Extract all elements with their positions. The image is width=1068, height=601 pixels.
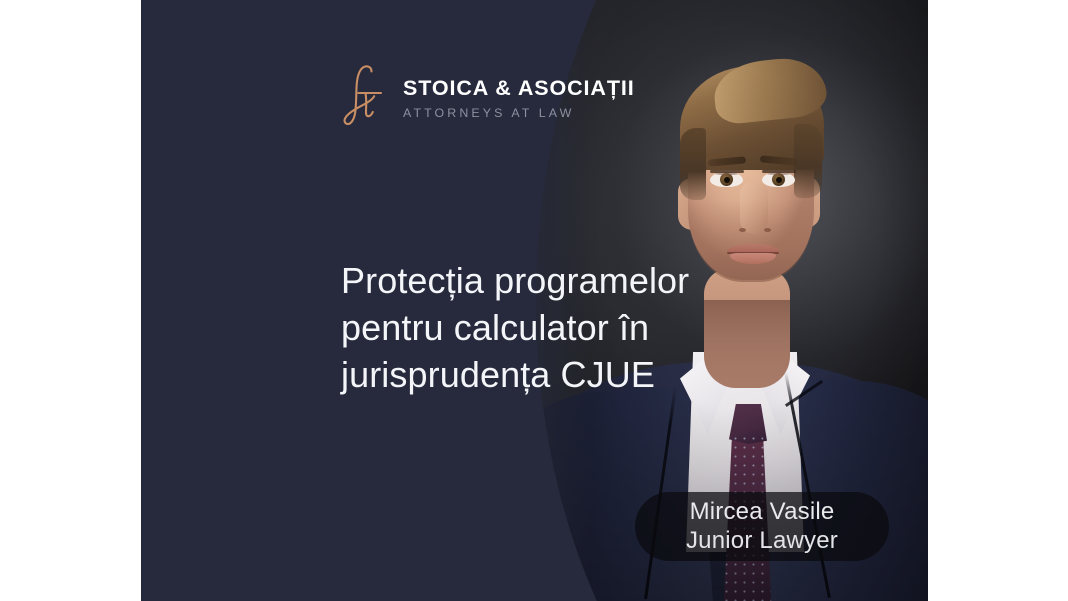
speaker-role: Junior Lawyer	[686, 527, 838, 555]
pupil-left	[724, 177, 730, 183]
st-monogram-icon	[341, 62, 393, 132]
brand-logo-text: STOICA & ASOCIAȚII ATTORNEYS AT LAW	[403, 73, 635, 122]
brand-name: STOICA & ASOCIAȚII	[403, 77, 635, 101]
slide-card: STOICA & ASOCIAȚII ATTORNEYS AT LAW Prot…	[141, 0, 928, 601]
page-title-line-2: pentru calculator în	[341, 305, 721, 352]
page-title-line-1: Protecția programelor	[341, 258, 721, 305]
speaker-name: Mircea Vasile	[690, 498, 835, 526]
nose	[740, 182, 768, 234]
eye-right	[762, 172, 795, 187]
nostril-left	[739, 228, 746, 232]
nostril-right	[764, 228, 771, 232]
brand-logo: STOICA & ASOCIAȚII ATTORNEYS AT LAW	[341, 62, 635, 132]
pupil-right	[776, 177, 782, 183]
eyelash-left	[710, 170, 744, 173]
eye-left	[710, 172, 743, 187]
hair-fade-right	[794, 124, 822, 198]
hair-fade-left	[680, 128, 706, 200]
brand-tagline: ATTORNEYS AT LAW	[403, 106, 635, 121]
page-title-line-3: jurisprudența CJUE	[341, 352, 721, 399]
eyelash-right	[762, 170, 796, 173]
presentation-slide: STOICA & ASOCIAȚII ATTORNEYS AT LAW Prot…	[0, 0, 1068, 601]
page-title: Protecția programelor pentru calculator …	[341, 258, 721, 398]
speaker-name-badge: Mircea Vasile Junior Lawyer	[635, 492, 889, 561]
